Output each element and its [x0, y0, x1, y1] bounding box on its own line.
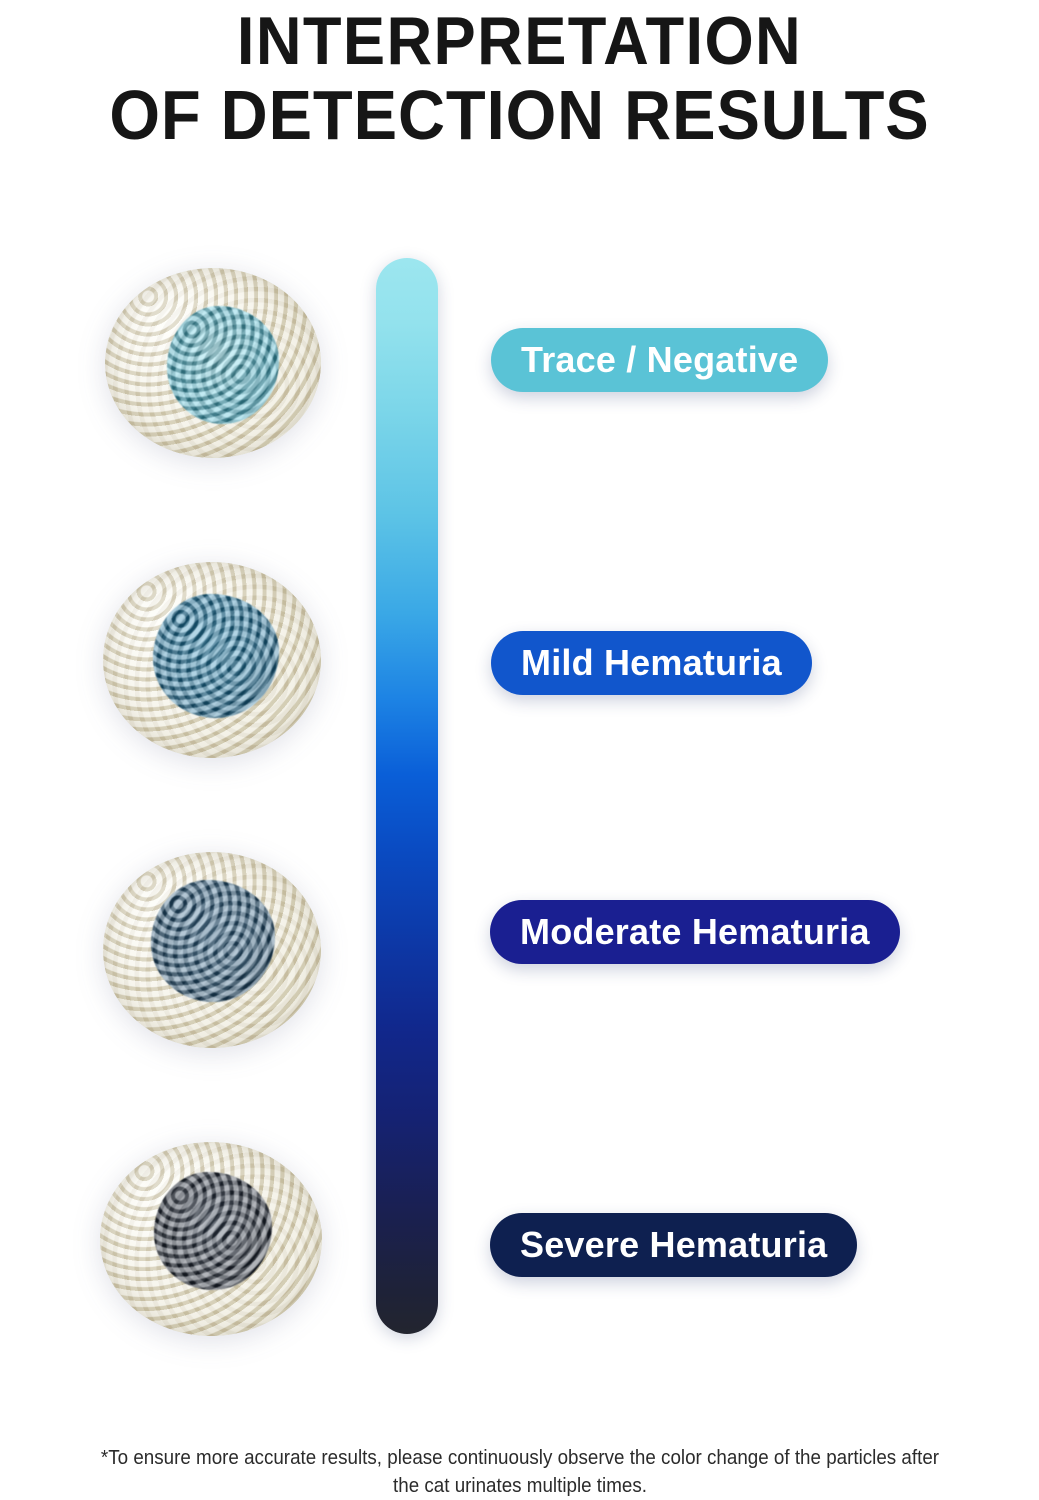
title-line-1: INTERPRETATION [36, 4, 1002, 78]
result-badge-severe-hematuria[interactable]: Severe Hematuria [490, 1213, 857, 1277]
page-title: INTERPRETATION OF DETECTION RESULTS [0, 4, 1039, 152]
title-line-2: OF DETECTION RESULTS [36, 78, 1002, 152]
litter-sample-mild-hematuria [103, 562, 321, 758]
litter-sample-moderate-hematuria [103, 852, 321, 1048]
result-badge-moderate-hematuria[interactable]: Moderate Hematuria [490, 900, 900, 964]
result-badge-trace-negative[interactable]: Trace / Negative [491, 328, 828, 392]
result-badge-mild-hematuria[interactable]: Mild Hematuria [491, 631, 812, 695]
litter-sample-trace-negative [105, 268, 321, 458]
litter-sample-severe-hematuria [100, 1142, 322, 1336]
footnote-text: *To ensure more accurate results, please… [97, 1444, 943, 1500]
interpretation-results-page: INTERPRETATION OF DETECTION RESULTS Trac… [0, 0, 1039, 1500]
color-gradient-scale [376, 258, 438, 1334]
